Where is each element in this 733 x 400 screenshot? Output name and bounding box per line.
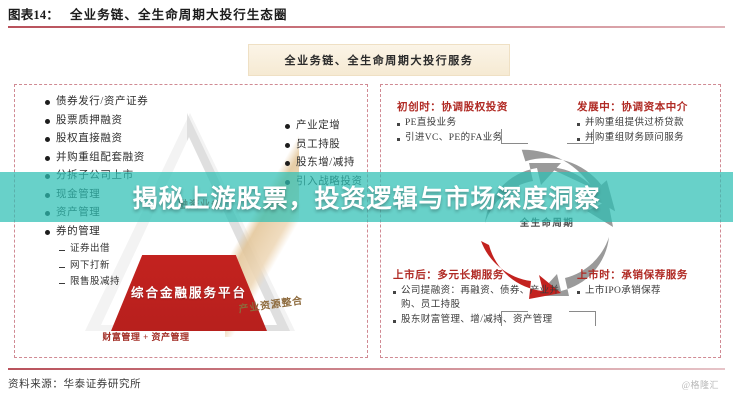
list-item-label: 并购重组财务顾问服务: [585, 132, 684, 145]
screenshot-root: 图表14： 全业务链、全生命周期大投行生态圈 全业务链、全生命周期大投行服务 融…: [0, 0, 733, 400]
diagram-banner: 全业务链、全生命周期大投行服务: [248, 44, 510, 76]
list-item-label: 债券发行/资产证券: [56, 95, 148, 109]
list-item: 股权直接融资: [45, 132, 148, 146]
list-item-label: 证券出借: [70, 243, 110, 256]
figure-label: 图表14：: [8, 4, 59, 23]
overlay-title-text: 揭秘上游股票，投资逻辑与市场深度洞察: [132, 179, 600, 215]
list-item: 限售股减持: [59, 276, 148, 289]
pyramid-base-label: 综合金融服务平台: [131, 285, 247, 302]
list-item: 上市IPO承销保荐: [577, 285, 688, 298]
list-item-label: 网下打新: [70, 260, 110, 273]
list-item-label: 产业定增: [296, 119, 340, 133]
bullet-dot-icon: [397, 123, 400, 126]
list-item: 债券发行/资产证券: [45, 95, 148, 109]
bullet-dot-icon: [285, 161, 290, 166]
leader-line-post-listing: [501, 311, 528, 326]
quadrant-startup: 初创时：协调股权投资 PE直投业务 引进VC、PE的FA业务: [397, 99, 508, 147]
list-item: 券的管理: [45, 225, 148, 239]
bullet-dot-icon: [45, 137, 50, 142]
diagram-banner-label: 全业务链、全生命周期大投行服务: [285, 52, 474, 68]
list-item: 并购重组配套融资: [45, 151, 148, 165]
list-item: 证券出借: [59, 243, 148, 256]
quadrant-title: 上市时：承销保荐服务: [577, 267, 688, 282]
pyramid-left-base-label: 财富管理 + 资产管理: [97, 331, 195, 343]
list-item-label: PE直投业务: [405, 117, 457, 130]
quadrant-title: 初创时：协调股权投资: [397, 99, 508, 114]
list-item-label: 股东增/减持: [296, 156, 355, 170]
list-item-label: 并购重组提供过桥贷款: [585, 117, 684, 130]
bullet-dot-icon: [397, 138, 400, 141]
bullet-dot-icon: [45, 100, 50, 105]
list-item-label: 限售股减持: [70, 276, 120, 289]
bullet-dot-icon: [393, 320, 396, 323]
quadrant-title: 发展中：协调资本中介: [577, 99, 688, 114]
list-item: 公司提融资：再融资、债券、产业并购、员工持股: [393, 285, 563, 312]
list-item-label: 引进VC、PE的FA业务: [405, 132, 503, 145]
list-item-label: 公司提融资：再融资、债券、产业并购、员工持股: [401, 285, 563, 312]
list-item: 股票质押融资: [45, 114, 148, 128]
bullet-dot-icon: [577, 123, 580, 126]
header-divider: [8, 26, 725, 28]
bullet-dot-icon: [45, 119, 50, 124]
list-item: PE直投业务: [397, 117, 508, 130]
list-item-label: 股票质押融资: [56, 114, 123, 128]
dash-bullet-icon: [59, 250, 65, 251]
dash-bullet-icon: [59, 283, 65, 284]
watermark-label: @格隆汇: [682, 378, 719, 391]
list-item-label: 股东财富管理、增/减持、资产管理: [401, 314, 553, 328]
footer-divider: [8, 368, 725, 370]
bullet-dot-icon: [45, 230, 50, 235]
list-item: 员工持股: [285, 138, 363, 152]
list-item-label: 股权直接融资: [56, 132, 123, 146]
quadrant-listing: 上市时：承销保荐服务 上市IPO承销保荐: [577, 267, 688, 300]
quadrant-title: 上市后：多元长期服务: [393, 267, 563, 282]
list-item-label: 员工持股: [296, 138, 340, 152]
list-item-label: 券的管理: [56, 225, 100, 239]
quadrant-post-listing: 上市后：多元长期服务 公司提融资：再融资、债券、产业并购、员工持股 股东财富管理…: [393, 267, 563, 330]
list-item: 股东财富管理、增/减持、资产管理: [393, 314, 563, 328]
page-title: 全业务链、全生命周期大投行生态圈: [70, 4, 288, 23]
leader-line-startup: [501, 129, 528, 144]
management-sublist: 证券出借 网下打新 限售股减持: [59, 243, 148, 289]
list-item: 产业定增: [285, 119, 363, 133]
list-item: 引进VC、PE的FA业务: [397, 132, 508, 145]
source-note: 资料来源：华泰证券研究所: [8, 376, 141, 391]
leader-line-growth: [567, 129, 594, 144]
bullet-dot-icon: [577, 291, 580, 294]
list-item-label: 并购重组配套融资: [56, 151, 145, 165]
bullet-dot-icon: [45, 156, 50, 161]
list-item: 网下打新: [59, 260, 148, 273]
leader-line-listing: [569, 311, 596, 326]
bullet-dot-icon: [393, 291, 396, 294]
bullet-dot-icon: [285, 143, 290, 148]
list-item-label: 上市IPO承销保荐: [585, 285, 661, 298]
bullet-dot-icon: [285, 124, 290, 129]
overlay-title: 揭秘上游股票，投资逻辑与市场深度洞察: [0, 172, 733, 222]
list-item: 股东增/减持: [285, 156, 363, 170]
dash-bullet-icon: [59, 267, 65, 268]
